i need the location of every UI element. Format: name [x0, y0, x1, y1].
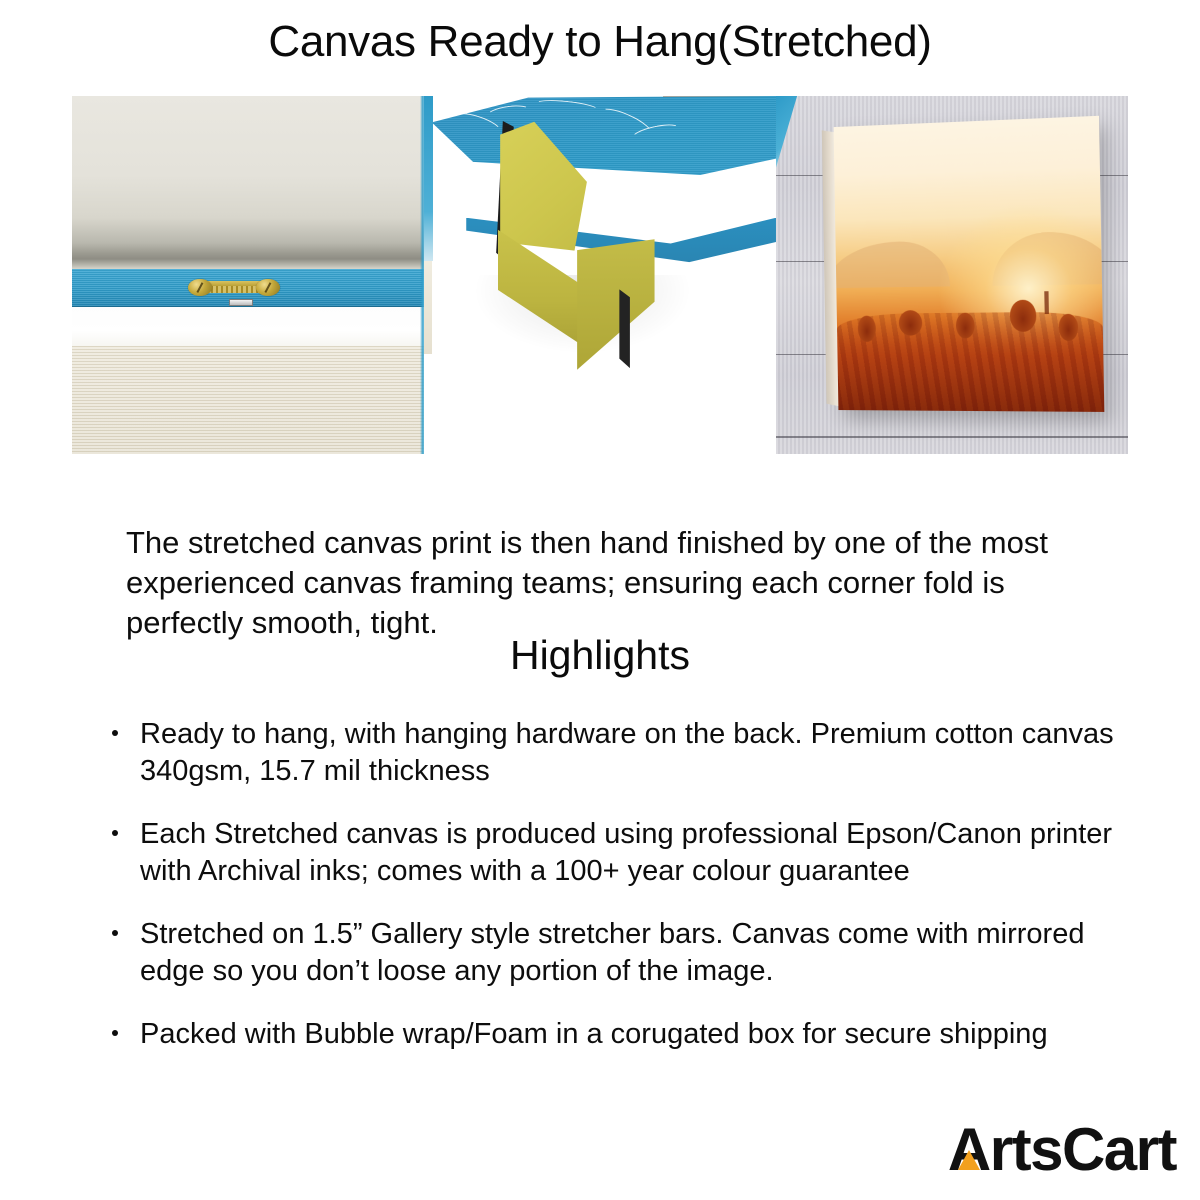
- artscart-logo: A rtsCart: [948, 1118, 1176, 1182]
- bullet-dot-icon: [112, 930, 118, 936]
- highlights-heading: Highlights: [0, 630, 1200, 680]
- list-item-text: Packed with Bubble wrap/Foam in a coruga…: [140, 1018, 1048, 1050]
- canvas-print-face: [833, 116, 1104, 412]
- highlights-list: Ready to hang, with hanging hardware on …: [108, 716, 1118, 1079]
- photo-b-left-blue-strip: [424, 96, 433, 261]
- orange-triangle-icon: [958, 1150, 980, 1170]
- bullet-dot-icon: [112, 1030, 118, 1036]
- tree-cluster: [956, 312, 975, 338]
- hill-left: [833, 240, 950, 288]
- photo-b-left-canvas-strip: [424, 261, 432, 354]
- page-title: Canvas Ready to Hang(Stretched): [0, 14, 1200, 70]
- plank-seam: [776, 436, 1128, 438]
- tower-spire: [1044, 291, 1049, 315]
- list-item: Stretched on 1.5” Gallery style stretche…: [108, 916, 1118, 990]
- photo-a-canvas-texture: [72, 346, 424, 454]
- canvas-corner-fold-photo: [424, 96, 776, 454]
- product-photo-strip: [72, 96, 1128, 454]
- canvas-back-hanger-photo: [72, 96, 424, 454]
- hanger-screw-right: [256, 279, 280, 296]
- list-item: Ready to hang, with hanging hardware on …: [108, 716, 1118, 790]
- hanging-canvas: [833, 116, 1104, 412]
- logo-letter-a: A: [948, 1118, 990, 1182]
- lead-paragraph: The stretched canvas print is then hand …: [126, 523, 1086, 643]
- list-item-text: Each Stretched canvas is produced using …: [140, 818, 1112, 887]
- sawtooth-hanger-icon: [188, 277, 280, 297]
- hanger-screw-left: [188, 279, 212, 296]
- list-item-text: Ready to hang, with hanging hardware on …: [140, 718, 1114, 787]
- bullet-dot-icon: [112, 830, 118, 836]
- logo-text-rest: rtsCart: [990, 1118, 1176, 1182]
- photo-a-white-band: [72, 307, 424, 346]
- photo-b-dark-edge-lower: [619, 289, 630, 368]
- tree-cluster: [857, 316, 875, 342]
- list-item: Each Stretched canvas is produced using …: [108, 816, 1118, 890]
- tree-cluster: [1009, 300, 1037, 332]
- product-info-graphic: Canvas Ready to Hang(Stretched): [0, 0, 1200, 1200]
- bullet-dot-icon: [112, 730, 118, 736]
- canvas-on-wall-photo: [776, 96, 1128, 454]
- photo-a-metal-tab: [229, 299, 254, 305]
- tree-cluster: [1058, 314, 1078, 341]
- list-item: Packed with Bubble wrap/Foam in a coruga…: [108, 1016, 1118, 1053]
- tree-cluster: [898, 310, 922, 336]
- wave-wisp: [535, 98, 600, 116]
- list-item-text: Stretched on 1.5” Gallery style stretche…: [140, 918, 1084, 987]
